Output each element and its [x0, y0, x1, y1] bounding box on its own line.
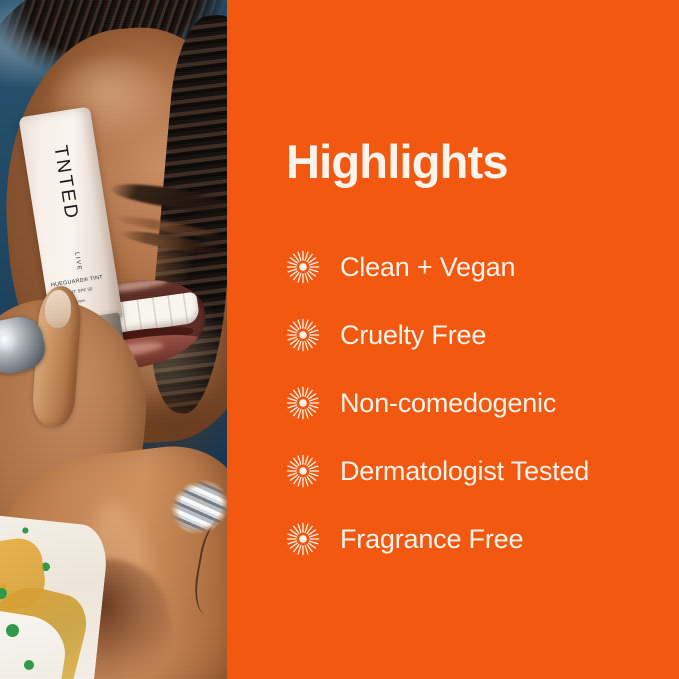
highlights-list: Clean + Vegan Cruelty Free Non-comedogen…	[286, 233, 679, 573]
list-item-label: Dermatologist Tested	[340, 456, 589, 487]
page-title: Highlights	[286, 138, 679, 185]
list-item-label: Clean + Vegan	[340, 252, 515, 283]
shirt-dot	[24, 660, 34, 670]
sunburst-icon	[286, 454, 320, 488]
sunburst-icon	[286, 250, 320, 284]
highlights-banner: TNTED LIVE HUEGUARD® TINT SKIN TINT SPF …	[0, 0, 679, 679]
sunburst-icon	[286, 386, 320, 420]
list-item-label: Fragrance Free	[340, 524, 523, 555]
highlights-panel: Highlights Clean + Vegan Cruelty Free	[227, 0, 679, 679]
list-item-label: Cruelty Free	[340, 320, 486, 351]
product-lifestyle-photo: TNTED LIVE HUEGUARD® TINT SKIN TINT SPF …	[0, 0, 227, 679]
highlight-item-0: Clean + Vegan	[286, 233, 679, 301]
sunburst-icon	[286, 318, 320, 352]
shirt-dot	[6, 624, 19, 637]
list-item-label: Non-comedogenic	[340, 388, 556, 419]
highlight-item-1: Cruelty Free	[286, 301, 679, 369]
highlight-item-4: Fragrance Free	[286, 505, 679, 573]
highlight-item-3: Dermatologist Tested	[286, 437, 679, 505]
highlight-item-2: Non-comedogenic	[286, 369, 679, 437]
sunburst-icon	[286, 522, 320, 556]
